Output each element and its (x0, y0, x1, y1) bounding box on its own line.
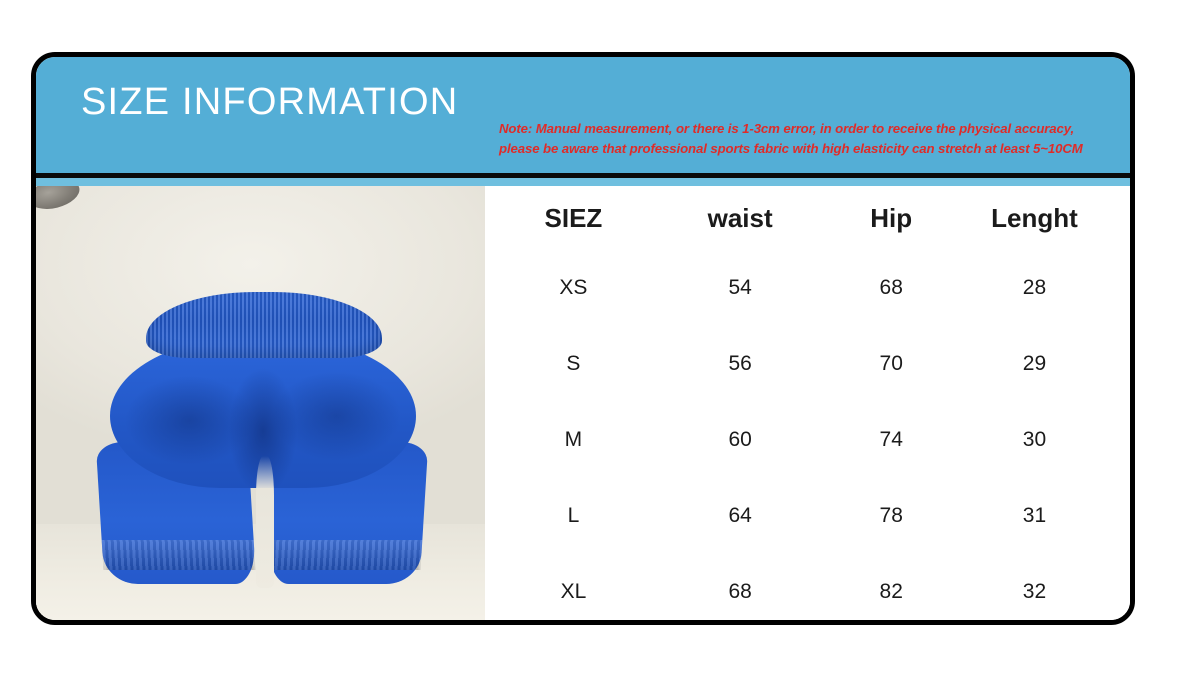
cell-length: 30 (964, 402, 1105, 478)
cell-hip: 82 (818, 554, 963, 625)
table-row: M 60 74 30 (485, 402, 1105, 478)
size-table-body: XS 54 68 28 S 56 70 29 M (485, 250, 1105, 625)
table-row: XL 68 82 32 (485, 554, 1105, 625)
measurement-note-line-2: please be aware that professional sports… (499, 139, 1129, 159)
size-table: SIEZ waist Hip Lenght XS 54 68 28 (485, 186, 1105, 625)
column-header-size: SIEZ (485, 186, 662, 250)
shorts-garment (94, 292, 430, 584)
cell-length: 32 (964, 554, 1105, 625)
cell-size: XS (485, 250, 662, 326)
cell-hip: 78 (818, 478, 963, 554)
cell-hip: 70 (818, 326, 963, 402)
card-body: SIEZ waist Hip Lenght XS 54 68 28 (36, 186, 1130, 620)
size-information-card: SIZE INFORMATION Note: Manual measuremen… (31, 52, 1135, 625)
table-header-row: SIEZ waist Hip Lenght (485, 186, 1105, 250)
cell-hip: 74 (818, 402, 963, 478)
shorts-inseam-gap (256, 456, 274, 588)
column-header-waist: waist (662, 186, 819, 250)
size-table-panel: SIEZ waist Hip Lenght XS 54 68 28 (485, 186, 1130, 620)
size-table-head: SIEZ waist Hip Lenght (485, 186, 1105, 250)
column-header-length: Lenght (964, 186, 1105, 250)
page-title: SIZE INFORMATION (81, 83, 458, 121)
cell-length: 29 (964, 326, 1105, 402)
header-band: SIZE INFORMATION Note: Manual measuremen… (36, 57, 1130, 173)
cell-size: XL (485, 554, 662, 625)
cell-waist: 56 (662, 326, 819, 402)
cell-size: L (485, 478, 662, 554)
measurement-note: Note: Manual measurement, or there is 1-… (499, 119, 1129, 159)
table-row: L 64 78 31 (485, 478, 1105, 554)
product-photo (36, 186, 485, 620)
cell-waist: 68 (662, 554, 819, 625)
cell-length: 31 (964, 478, 1105, 554)
shorts-left-hem (102, 540, 256, 570)
cell-size: S (485, 326, 662, 402)
table-row: S 56 70 29 (485, 326, 1105, 402)
shorts-right-hem (269, 540, 423, 570)
shorts-waistband (146, 292, 382, 358)
cell-waist: 60 (662, 402, 819, 478)
size-chart-image: SIZE INFORMATION Note: Manual measuremen… (0, 0, 1200, 675)
measurement-note-line-1: Note: Manual measurement, or there is 1-… (499, 119, 1129, 139)
cell-waist: 54 (662, 250, 819, 326)
header-accent-strip (36, 178, 1130, 186)
cell-size: M (485, 402, 662, 478)
cell-hip: 68 (818, 250, 963, 326)
table-row: XS 54 68 28 (485, 250, 1105, 326)
cell-length: 28 (964, 250, 1105, 326)
column-header-hip: Hip (818, 186, 963, 250)
cell-waist: 64 (662, 478, 819, 554)
